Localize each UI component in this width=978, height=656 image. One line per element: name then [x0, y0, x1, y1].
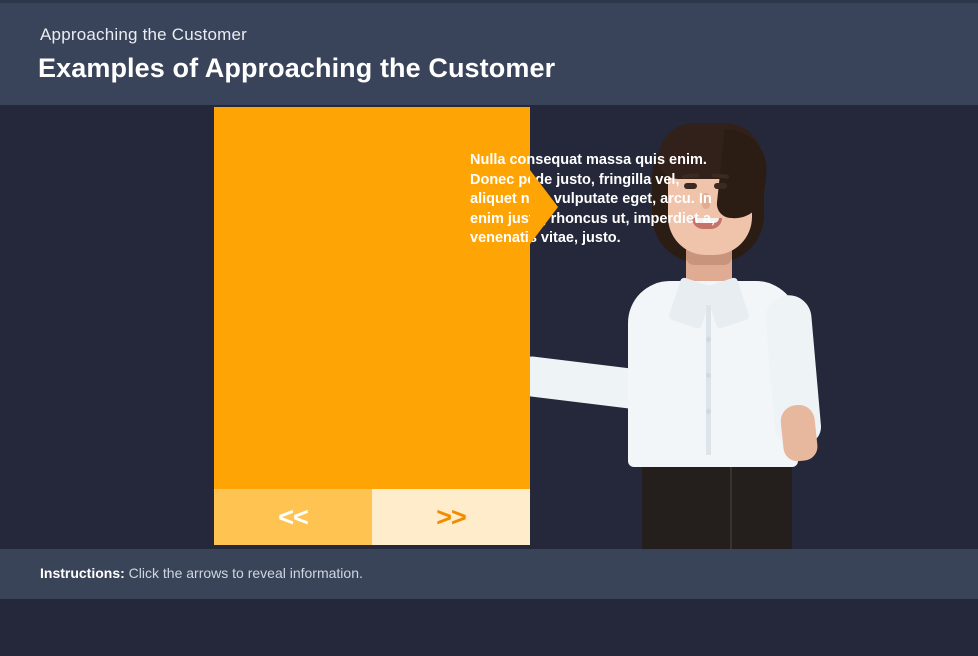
previous-content-button[interactable]: <<: [214, 489, 372, 545]
presenter-shirt-placket: [706, 305, 711, 455]
instructions-bar: Instructions: Click the arrows to reveal…: [0, 549, 978, 599]
instructions-text: Instructions: Click the arrows to reveal…: [40, 565, 363, 581]
slide-header: Approaching the Customer Examples of App…: [0, 0, 978, 105]
slide-container: Approaching the Customer Examples of App…: [0, 0, 978, 656]
callout-body-text: Nulla consequat massa quis enim. Donec p…: [470, 151, 716, 249]
double-chevron-left-icon: <<: [278, 504, 308, 531]
page-title: Examples of Approaching the Customer: [38, 53, 555, 84]
shirt-button: [706, 409, 711, 414]
double-chevron-right-icon: >>: [436, 504, 466, 531]
shirt-button: [706, 337, 711, 342]
shirt-button: [706, 373, 711, 378]
instructions-detail: Click the arrows to reveal information.: [125, 565, 363, 581]
player-footer: 19/57: [0, 599, 978, 656]
lesson-subtitle: Approaching the Customer: [40, 25, 247, 45]
slide-stage: Nulla consequat massa quis enim. Donec p…: [0, 105, 978, 549]
callout-pointer-icon: [530, 170, 558, 244]
instructions-label: Instructions:: [40, 565, 125, 581]
content-callout-panel: Nulla consequat massa quis enim. Donec p…: [214, 107, 530, 545]
next-content-button[interactable]: >>: [372, 489, 530, 545]
